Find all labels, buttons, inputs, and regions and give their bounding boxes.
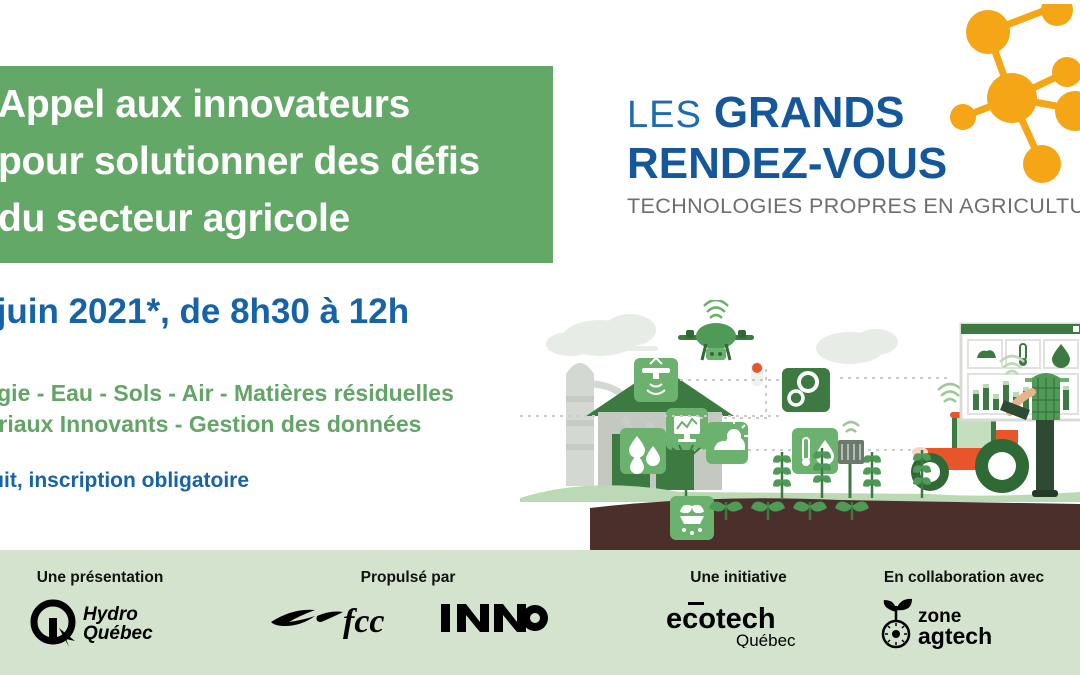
sponsor-label-presentation: Une présentation xyxy=(0,568,200,588)
toggle-switch xyxy=(751,362,763,386)
sponsor-group-collaboration: En collaboration avec zone a xyxy=(848,568,1080,650)
hydro-text: Hydro xyxy=(83,604,138,625)
quebec-text: Québec xyxy=(83,623,153,644)
network-nodes-icon xyxy=(945,4,1080,194)
headline-line-2: pour solutionner des défis xyxy=(0,133,553,190)
sponsor-group-presentation: Une présentation Hydro Québec xyxy=(0,568,200,646)
clouds xyxy=(546,314,1020,371)
badge-drone-sensor-icon xyxy=(634,358,678,402)
sponsor-group-propulse: Propulsé par fcc xyxy=(228,568,588,642)
quebec-text: Québec xyxy=(736,631,796,648)
ecotech-quebec-logo: ecotech Québec xyxy=(636,598,841,648)
zone-agtech-logo: zone agtech xyxy=(848,598,1080,650)
logo-tagline: TECHNOLOGIES PROPRES EN AGRICULTURE xyxy=(627,192,1080,220)
theme-line-1: Énergie - Eau - Sols - Air - Matières ré… xyxy=(0,378,606,409)
promotional-banner: Appel aux innovateurs pour solutionner d… xyxy=(0,0,1080,675)
badge-weather-icon xyxy=(706,420,748,464)
dashboard-panel xyxy=(961,324,1080,420)
badge-seed-planting-icon xyxy=(670,496,714,540)
sponsor-label-propulse: Propulsé par xyxy=(228,568,588,588)
fcc-logo: fcc xyxy=(267,594,397,642)
badge-gears-icon xyxy=(782,368,830,412)
headline-line-3: du secteur agricole xyxy=(0,190,553,247)
smart-agriculture-illustration xyxy=(520,300,1080,550)
badge-water-drops-icon xyxy=(620,428,666,474)
hydro-quebec-logo: Hydro Québec xyxy=(0,598,200,646)
theme-line-2: Matériaux Innovants - Gestion des donnée… xyxy=(0,409,606,440)
theme-list: Énergie - Eau - Sols - Air - Matières ré… xyxy=(0,378,606,440)
event-date: 18 juin 2021*, de 8h30 à 12h xyxy=(0,292,588,332)
svg-text:fcc: fcc xyxy=(343,603,385,640)
inno-logo xyxy=(439,598,549,638)
sponsor-footer: Une présentation Hydro Québec Propulsé p… xyxy=(0,550,1080,675)
headline-line-1: Appel aux innovateurs xyxy=(0,76,553,133)
badge-monitor-chart-icon xyxy=(666,408,708,450)
soil xyxy=(590,498,1080,550)
sensor-post xyxy=(838,422,864,498)
sponsor-label-initiative: Une initiative xyxy=(636,568,841,588)
drone xyxy=(678,300,754,360)
logo-word-les: LES xyxy=(627,94,702,136)
sponsor-group-initiative: Une initiative ecotech Québec xyxy=(636,568,841,648)
headline-block: Appel aux innovateurs pour solutionner d… xyxy=(0,66,553,263)
registration-note: Gratuit, inscription obligatoire xyxy=(0,468,588,494)
logo-word-grands: GRANDS xyxy=(714,88,905,137)
sponsor-label-collaboration: En collaboration avec xyxy=(848,568,1080,588)
agtech-text: agtech xyxy=(918,623,992,649)
